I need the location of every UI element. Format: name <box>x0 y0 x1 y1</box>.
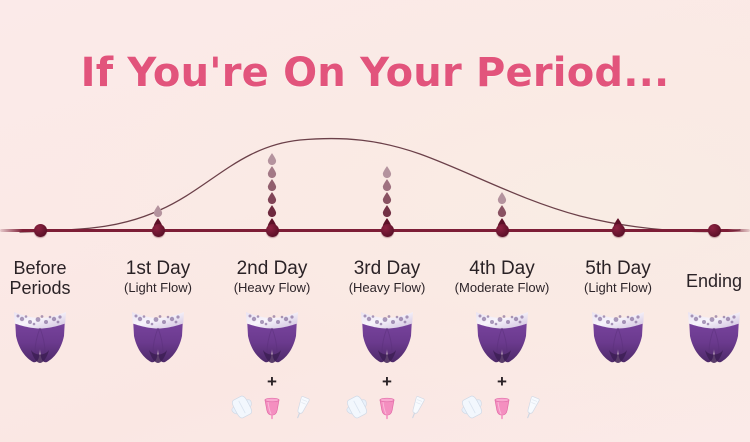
stage-day-label: Ending <box>686 270 742 292</box>
tampon-icon[interactable] <box>519 394 545 420</box>
tampon-icon[interactable] <box>289 394 315 420</box>
timeline-node-before-periods[interactable] <box>34 224 47 237</box>
drop-stack-day-3 <box>383 166 392 231</box>
plus-sign: + <box>442 374 562 390</box>
period-underwear-icon-day-3[interactable] <box>356 306 418 366</box>
period-underwear-icon-before-periods[interactable] <box>9 306 71 366</box>
product-recommendation-row: +++ <box>0 374 750 436</box>
product-group-day-3: + <box>327 374 447 420</box>
flow-drop-markers <box>0 118 750 231</box>
blood-drop-icon <box>268 166 277 178</box>
stage-flow-label: (Light Flow) <box>124 280 192 296</box>
stage-label-day-4: 4th Day(Moderate Flow) <box>455 258 550 296</box>
blood-drop-icon <box>498 192 507 204</box>
blood-drop-icon <box>498 205 507 217</box>
stage-flow-label: (Light Flow) <box>584 280 652 296</box>
blood-drop-icon <box>268 205 277 217</box>
stage-label-day-1: 1st Day(Light Flow) <box>124 258 192 296</box>
stage-day-label: 5th Day <box>584 258 652 280</box>
blood-drop-icon <box>268 153 277 165</box>
tampon-icon[interactable] <box>404 394 430 420</box>
stage-day-label-line2: Periods <box>9 278 70 298</box>
menstrual-cup-icon[interactable] <box>374 394 400 420</box>
stage-day-label: 2nd Day <box>234 258 311 280</box>
stage-label-ending: Ending <box>686 270 742 292</box>
timeline-node-day-1[interactable] <box>152 224 165 237</box>
stage-flow-label: (Heavy Flow) <box>349 280 426 296</box>
menstrual-cup-icon[interactable] <box>489 394 515 420</box>
plus-sign: + <box>327 374 447 390</box>
blood-drop-icon <box>383 205 392 217</box>
stage-flow-label: (Heavy Flow) <box>234 280 311 296</box>
stage-day-label: 4th Day <box>455 258 550 280</box>
blood-drop-icon <box>383 179 392 191</box>
product-icons <box>327 394 447 420</box>
drop-stack-day-2 <box>268 153 277 231</box>
product-group-day-2: + <box>212 374 332 420</box>
timeline-node-day-5[interactable] <box>612 224 625 237</box>
sanitary-pad-icon[interactable] <box>229 394 255 420</box>
timeline-node-day-3[interactable] <box>381 224 394 237</box>
period-underwear-icon-ending[interactable] <box>683 306 745 366</box>
product-icons <box>442 394 562 420</box>
stage-day-label: 1st Day <box>124 258 192 280</box>
stage-flow-label: (Moderate Flow) <box>455 280 550 296</box>
period-underwear-icon-day-2[interactable] <box>241 306 303 366</box>
infographic-canvas: If You're On Your Period... BeforePeriod… <box>0 0 750 442</box>
period-underwear-row <box>0 306 750 374</box>
page-title: If You're On Your Period... <box>0 50 750 96</box>
blood-drop-icon <box>268 192 277 204</box>
sanitary-pad-icon[interactable] <box>459 394 485 420</box>
period-underwear-icon-day-1[interactable] <box>127 306 189 366</box>
period-underwear-icon-day-4[interactable] <box>471 306 533 366</box>
timeline-node-day-2[interactable] <box>266 224 279 237</box>
stage-label-day-2: 2nd Day(Heavy Flow) <box>234 258 311 296</box>
product-group-day-4: + <box>442 374 562 420</box>
stage-day-label: Before <box>9 258 70 278</box>
stage-day-label: 3rd Day <box>349 258 426 280</box>
blood-drop-icon <box>154 205 163 217</box>
period-underwear-icon-day-5[interactable] <box>587 306 649 366</box>
timeline-node-day-4[interactable] <box>496 224 509 237</box>
plus-sign: + <box>212 374 332 390</box>
timeline-node-ending[interactable] <box>708 224 721 237</box>
menstrual-cup-icon[interactable] <box>259 394 285 420</box>
timeline-axis <box>0 229 750 232</box>
blood-drop-icon <box>383 166 392 178</box>
stage-label-before-periods: BeforePeriods <box>9 258 70 298</box>
timeline-labels: BeforePeriods1st Day(Light Flow)2nd Day(… <box>0 258 750 306</box>
stage-label-day-3: 3rd Day(Heavy Flow) <box>349 258 426 296</box>
product-icons <box>212 394 332 420</box>
stage-label-day-5: 5th Day(Light Flow) <box>584 258 652 296</box>
blood-drop-icon <box>383 192 392 204</box>
blood-drop-icon <box>268 179 277 191</box>
sanitary-pad-icon[interactable] <box>344 394 370 420</box>
